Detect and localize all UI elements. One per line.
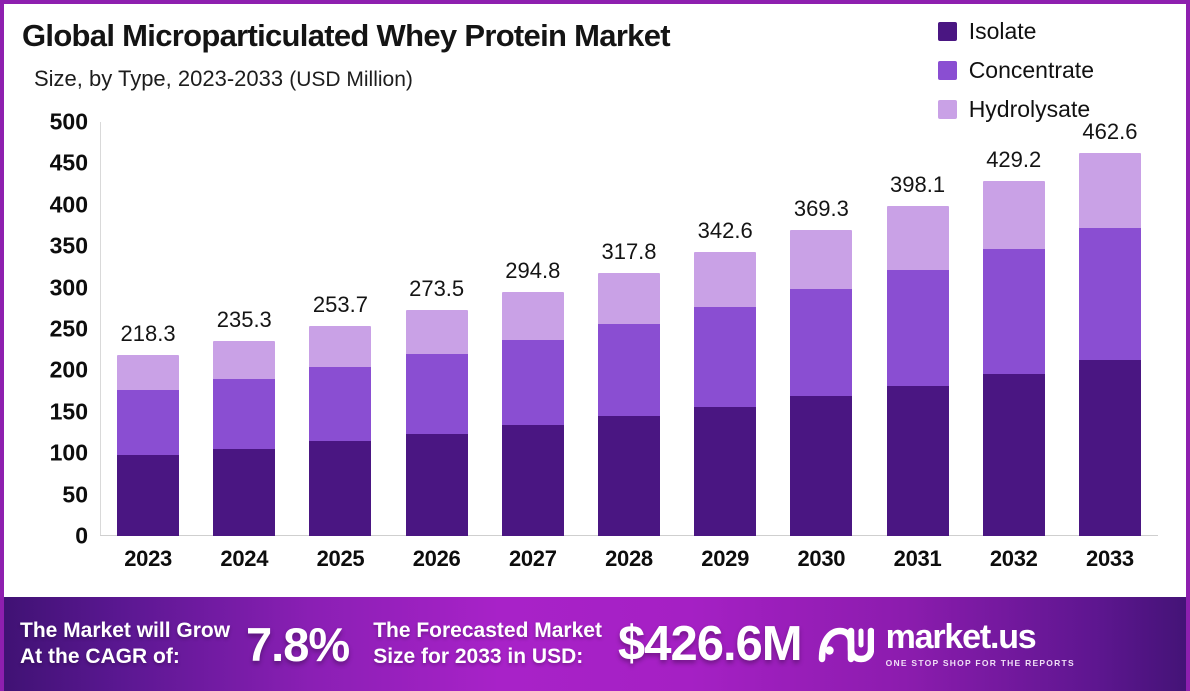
bar-segment-hydrolysate[interactable]	[887, 206, 949, 270]
bar-segment-concentrate[interactable]	[983, 249, 1045, 374]
x-axis-tick-label: 2024	[196, 546, 292, 572]
bar-total-label: 369.3	[794, 196, 849, 222]
bar-series-container: 218.3235.3253.7273.5294.8317.8342.6369.3…	[100, 122, 1158, 536]
x-axis-tick-label: 2031	[870, 546, 966, 572]
bar-segment-concentrate[interactable]	[117, 390, 179, 455]
y-axis-tick-label: 500	[4, 109, 88, 136]
bar-group[interactable]: 342.6	[677, 252, 773, 536]
bar-total-label: 273.5	[409, 276, 464, 302]
forecast-block: The Forecasted Market Size for 2033 in U…	[373, 616, 801, 672]
bar-group[interactable]: 218.3	[100, 355, 196, 536]
bar-segment-hydrolysate[interactable]	[213, 341, 275, 379]
x-axis-tick-label: 2023	[100, 546, 196, 572]
bar-group[interactable]: 398.1	[870, 206, 966, 536]
bar-group[interactable]: 294.8	[485, 292, 581, 536]
chart-plot-area: 050100150200250300350400450500 218.3235.…	[4, 122, 1186, 597]
bar-segment-isolate[interactable]	[694, 407, 756, 536]
bar-total-label: 317.8	[601, 239, 656, 265]
bar-segment-concentrate[interactable]	[887, 270, 949, 386]
chart-legend: Isolate Concentrate Hydrolysate	[938, 12, 1094, 129]
bar-segment-concentrate[interactable]	[406, 354, 468, 434]
x-axis-tick-label: 2028	[581, 546, 677, 572]
bar-group[interactable]: 235.3	[196, 341, 292, 536]
bar-segment-isolate[interactable]	[309, 441, 371, 536]
square-swatch-icon	[938, 22, 957, 41]
bar-group[interactable]: 429.2	[966, 181, 1062, 536]
x-axis-tick-label: 2030	[773, 546, 869, 572]
x-axis-tick-label: 2027	[485, 546, 581, 572]
stacked-bar[interactable]	[887, 206, 949, 536]
bar-segment-hydrolysate[interactable]	[1079, 153, 1141, 228]
bar-group[interactable]: 317.8	[581, 273, 677, 536]
bar-segment-isolate[interactable]	[1079, 360, 1141, 536]
bar-group[interactable]: 253.7	[292, 326, 388, 536]
square-swatch-icon	[938, 61, 957, 80]
bar-segment-hydrolysate[interactable]	[406, 310, 468, 354]
y-axis-tick-label: 150	[4, 398, 88, 425]
bar-total-label: 398.1	[890, 172, 945, 198]
y-axis-tick-label: 0	[4, 523, 88, 550]
legend-item-isolate[interactable]: Isolate	[938, 12, 1094, 51]
y-axis-tick-label: 100	[4, 440, 88, 467]
chart-subtitle-main: Size, by Type, 2023-2033	[34, 66, 289, 91]
y-axis-tick-label: 250	[4, 316, 88, 343]
x-axis-tick-label: 2032	[966, 546, 1062, 572]
stacked-bar[interactable]	[598, 273, 660, 536]
chart-subtitle-unit: (USD Million)	[289, 68, 413, 91]
bar-total-label: 462.6	[1082, 119, 1137, 145]
cagr-block: The Market will Grow At the CAGR of: 7.8…	[20, 617, 349, 672]
y-axis-tick-label: 400	[4, 191, 88, 218]
stacked-bar[interactable]	[1079, 153, 1141, 536]
bar-segment-isolate[interactable]	[983, 374, 1045, 536]
bar-segment-concentrate[interactable]	[1079, 228, 1141, 361]
legend-label-isolate: Isolate	[969, 18, 1037, 45]
brand-logo[interactable]: market.us ONE STOP SHOP FOR THE REPORTS	[816, 619, 1075, 669]
bar-segment-concentrate[interactable]	[694, 307, 756, 406]
bar-segment-hydrolysate[interactable]	[694, 252, 756, 307]
stacked-bar[interactable]	[983, 181, 1045, 536]
chart-subtitle: Size, by Type, 2023-2033 (USD Million)	[34, 66, 413, 92]
y-axis-tick-label: 350	[4, 233, 88, 260]
stacked-bar[interactable]	[502, 292, 564, 536]
square-swatch-icon	[938, 100, 957, 119]
legend-label-concentrate: Concentrate	[969, 57, 1094, 84]
stacked-bar[interactable]	[213, 341, 275, 536]
bar-segment-hydrolysate[interactable]	[502, 292, 564, 340]
bar-segment-concentrate[interactable]	[309, 367, 371, 442]
bar-segment-concentrate[interactable]	[790, 289, 852, 396]
forecast-caption: The Forecasted Market Size for 2033 in U…	[373, 618, 602, 669]
x-axis-tick-label: 2029	[677, 546, 773, 572]
bar-segment-hydrolysate[interactable]	[983, 181, 1045, 249]
bar-segment-concentrate[interactable]	[598, 324, 660, 416]
bar-segment-isolate[interactable]	[790, 396, 852, 536]
stacked-bar[interactable]	[309, 326, 371, 536]
y-axis-tick-label: 50	[4, 481, 88, 508]
bar-total-label: 253.7	[313, 292, 368, 318]
bar-segment-hydrolysate[interactable]	[598, 273, 660, 324]
x-axis-tick-label: 2026	[389, 546, 485, 572]
stacked-bar[interactable]	[117, 355, 179, 536]
bar-total-label: 218.3	[121, 321, 176, 347]
market-us-logo-icon	[816, 619, 874, 669]
brand-tagline: ONE STOP SHOP FOR THE REPORTS	[886, 658, 1075, 668]
stacked-bar[interactable]	[790, 230, 852, 536]
stacked-bar[interactable]	[406, 310, 468, 536]
bar-total-label: 342.6	[698, 218, 753, 244]
y-axis-tick-label: 450	[4, 150, 88, 177]
footer-banner: The Market will Grow At the CAGR of: 7.8…	[0, 597, 1190, 691]
bar-segment-concentrate[interactable]	[502, 340, 564, 425]
y-axis-labels: 050100150200250300350400450500	[4, 122, 88, 597]
bar-segment-hydrolysate[interactable]	[790, 230, 852, 289]
forecast-value: $426.6M	[618, 616, 802, 672]
infographic-root: Global Microparticulated Whey Protein Ma…	[0, 0, 1190, 691]
brand-words: market.us ONE STOP SHOP FOR THE REPORTS	[886, 620, 1075, 668]
bar-segment-isolate[interactable]	[213, 449, 275, 536]
y-axis-tick-label: 200	[4, 357, 88, 384]
bar-group[interactable]: 273.5	[389, 310, 485, 536]
bar-segment-isolate[interactable]	[598, 416, 660, 536]
bar-segment-isolate[interactable]	[887, 386, 949, 536]
bar-group[interactable]: 369.3	[773, 230, 869, 536]
bar-segment-hydrolysate[interactable]	[309, 326, 371, 367]
cagr-caption: The Market will Grow At the CAGR of:	[20, 618, 230, 669]
bar-segment-isolate[interactable]	[502, 425, 564, 536]
page-title: Global Microparticulated Whey Protein Ma…	[22, 18, 670, 54]
bar-total-label: 429.2	[986, 147, 1041, 173]
stacked-bar[interactable]	[694, 252, 756, 536]
bar-group[interactable]: 462.6	[1062, 153, 1158, 536]
bar-segment-hydrolysate[interactable]	[117, 355, 179, 390]
bar-total-label: 235.3	[217, 307, 272, 333]
bar-total-label: 294.8	[505, 258, 560, 284]
bar-segment-isolate[interactable]	[406, 434, 468, 536]
bar-segment-isolate[interactable]	[117, 455, 179, 536]
cagr-value: 7.8%	[246, 617, 349, 672]
y-axis-tick-label: 300	[4, 274, 88, 301]
bar-segment-concentrate[interactable]	[213, 379, 275, 449]
legend-item-concentrate[interactable]: Concentrate	[938, 51, 1094, 90]
legend-label-hydrolysate: Hydrolysate	[969, 96, 1090, 123]
chart-header: Global Microparticulated Whey Protein Ma…	[4, 4, 1186, 122]
x-axis-tick-label: 2025	[292, 546, 388, 572]
x-axis-labels: 2023202420252026202720282029203020312032…	[100, 546, 1158, 590]
brand-name: market.us	[886, 620, 1075, 654]
x-axis-tick-label: 2033	[1062, 546, 1158, 572]
